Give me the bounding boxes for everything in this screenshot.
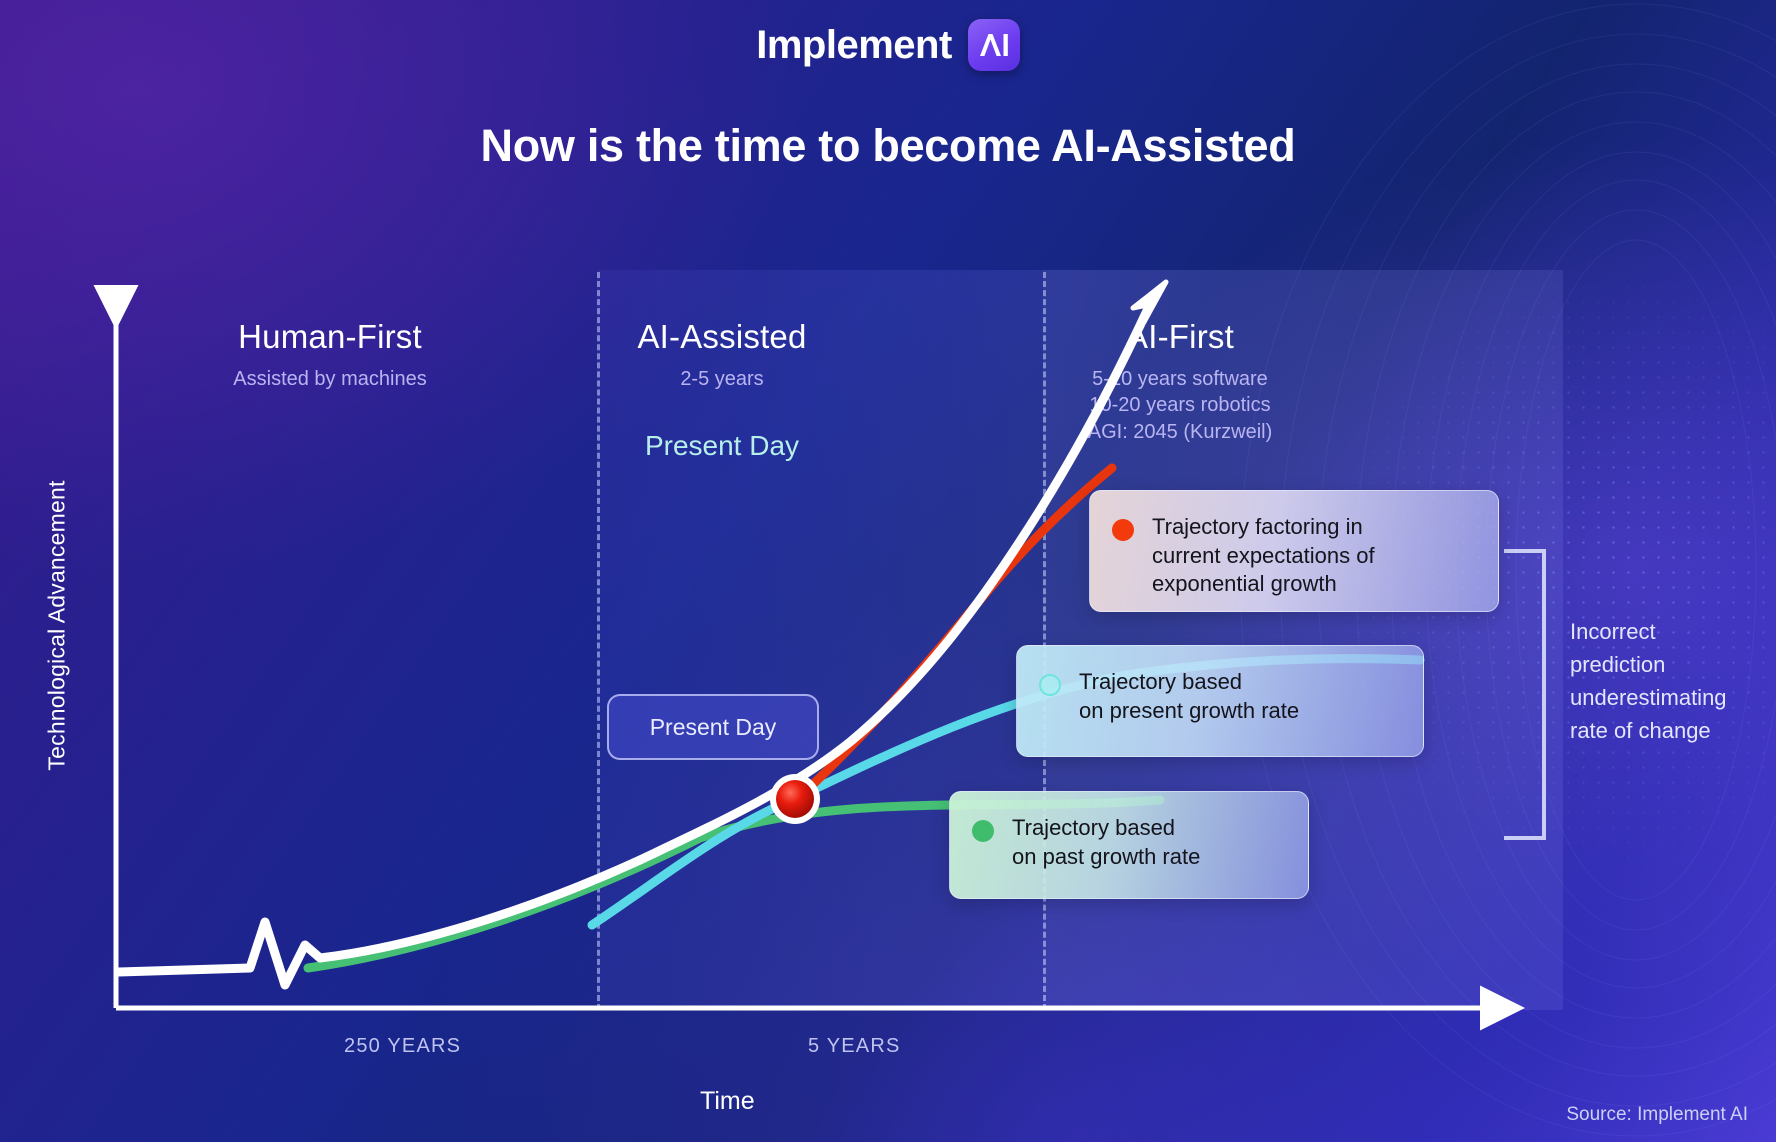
source-credit: Source: Implement AI xyxy=(1566,1104,1748,1126)
present-day-pill[interactable]: Present Day xyxy=(607,694,819,760)
legend-card-exponential-text: Trajectory factoring in current expectat… xyxy=(1152,513,1375,599)
slide-canvas: Implement Now is the time to become AI-A… xyxy=(0,0,1776,1142)
legend-card-present-growth-text: Trajectory based on present growth rate xyxy=(1079,668,1299,725)
annotation-line: rate of change xyxy=(1570,714,1776,747)
incorrect-prediction-bracket xyxy=(1504,551,1544,838)
x-axis-tick-250-years: 250 YEARS xyxy=(344,1035,461,1058)
legend-line: current expectations of xyxy=(1152,542,1375,571)
chart-plot xyxy=(0,0,1776,1142)
legend-card-past-growth-text: Trajectory based on past growth rate xyxy=(1012,814,1200,871)
legend-card-present-growth[interactable]: Trajectory based on present growth rate xyxy=(1016,645,1424,757)
present-day-pill-label: Present Day xyxy=(650,714,777,741)
legend-card-past-growth[interactable]: Trajectory based on past growth rate xyxy=(949,791,1309,899)
x-axis-label: Time xyxy=(700,1087,755,1116)
legend-line: on present growth rate xyxy=(1079,697,1299,726)
trajectory-arrowhead-icon xyxy=(1133,282,1166,322)
annotation-line: Incorrect xyxy=(1570,615,1776,648)
annotation-line: prediction xyxy=(1570,648,1776,681)
present-day-marker-core xyxy=(776,780,814,818)
legend-line: exponential growth xyxy=(1152,570,1375,599)
annotation-line: underestimating xyxy=(1570,681,1776,714)
legend-line: on past growth rate xyxy=(1012,843,1200,872)
y-axis-label: Technological Advancement xyxy=(44,461,71,791)
incorrect-prediction-annotation: Incorrect prediction underestimating rat… xyxy=(1570,615,1776,747)
legend-dot-green-icon xyxy=(972,820,994,842)
legend-dot-cyan-icon xyxy=(1039,674,1061,696)
legend-line: Trajectory based xyxy=(1079,668,1299,697)
x-axis-tick-5-years: 5 YEARS xyxy=(808,1035,901,1058)
legend-line: Trajectory factoring in xyxy=(1152,513,1375,542)
legend-line: Trajectory based xyxy=(1012,814,1200,843)
legend-card-exponential[interactable]: Trajectory factoring in current expectat… xyxy=(1089,490,1499,612)
legend-dot-red-icon xyxy=(1112,519,1134,541)
